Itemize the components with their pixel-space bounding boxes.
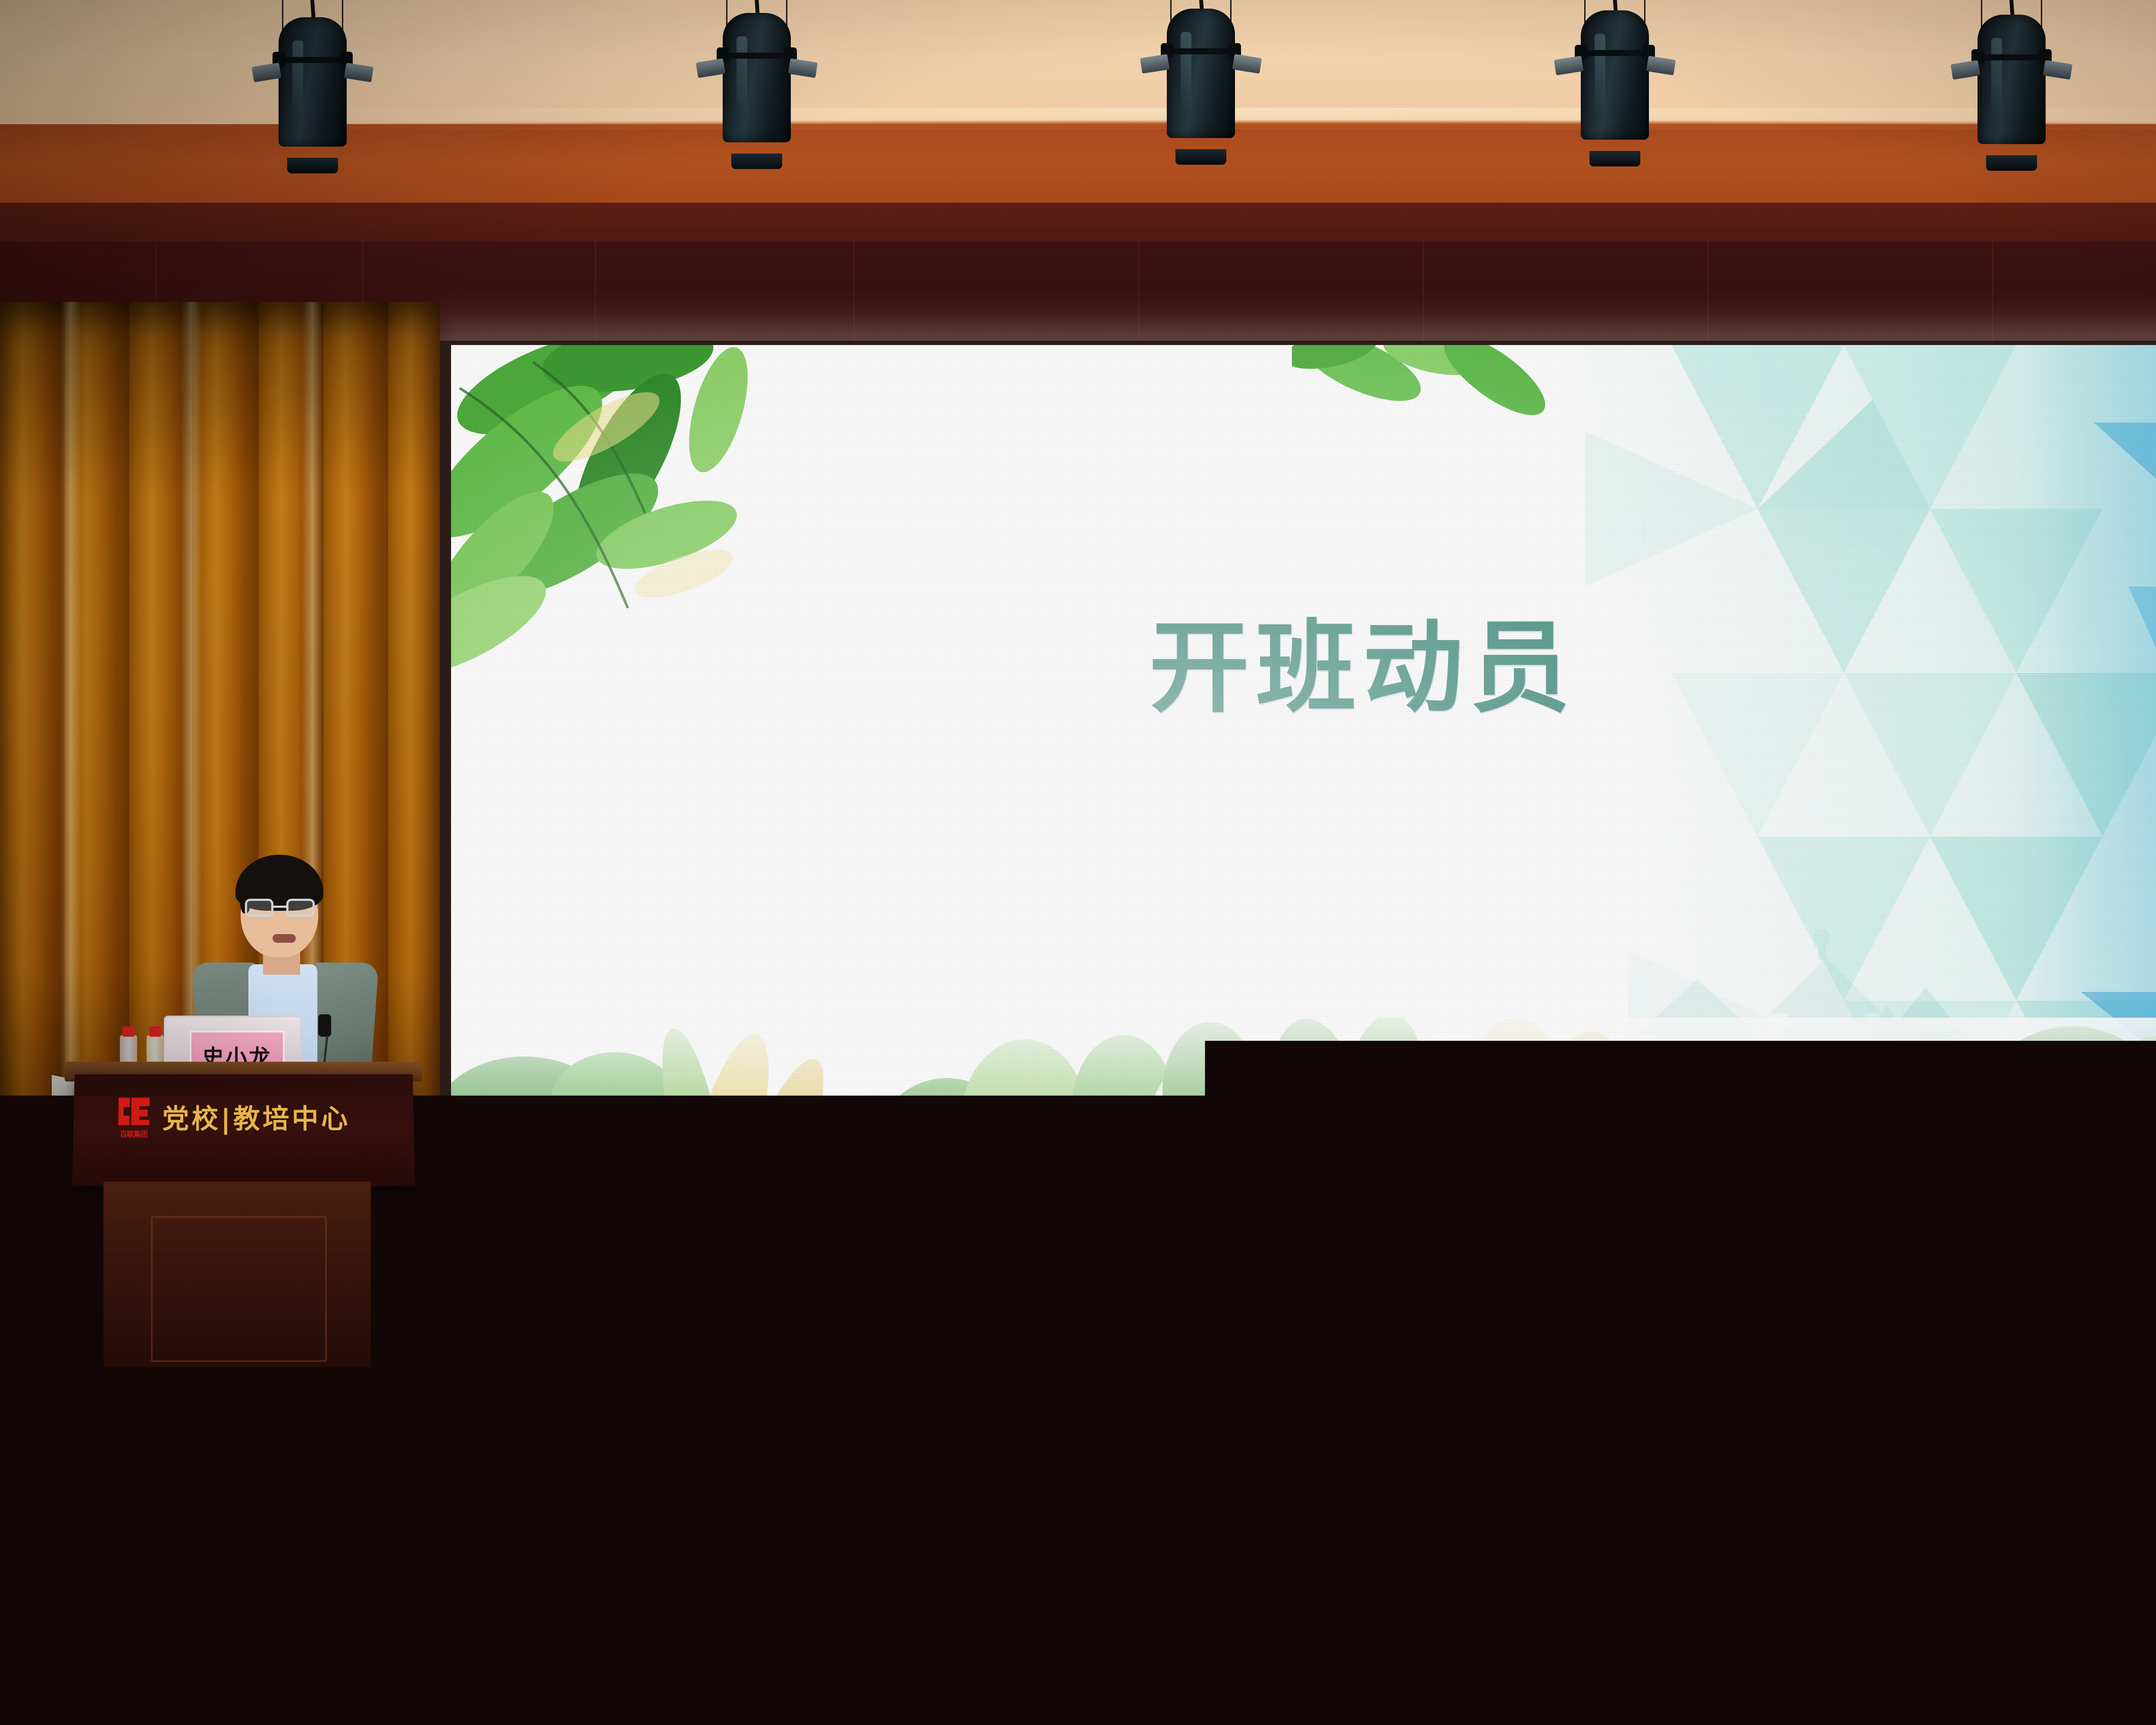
audience [0, 1229, 2156, 1725]
podium: 百联集团 党校|教培中心 [72, 1074, 415, 1186]
auditorium-scene: 开班动员 [0, 0, 2156, 1725]
audience-member [0, 1302, 250, 1725]
stage-light-1 [267, 0, 358, 177]
slide-title: 开班动员 [451, 586, 2156, 731]
presentation-slide: 开班动员 [451, 345, 2156, 1333]
thermos-bottle [1876, 1552, 1904, 1673]
bailian-group-logo-icon: 百联集团 [116, 1096, 151, 1137]
stage-light-5 [1966, 0, 2057, 174]
thermos-bottle [716, 1587, 744, 1699]
eyeglasses-icon [244, 899, 316, 918]
stage-light-3 [1156, 0, 1246, 168]
podium-sign-text: 党校|教培中心 [162, 1097, 351, 1136]
microphone-icon [318, 1014, 331, 1037]
stage-light-2 [711, 0, 802, 172]
audience-member [354, 1294, 699, 1725]
chair-back [949, 1652, 1337, 1678]
audience-member [1570, 1363, 1811, 1725]
chair-back [1457, 1643, 1846, 1669]
logo-subtext: 百联集团 [116, 1128, 151, 1139]
stage-light-4 [1570, 0, 1660, 170]
chair-back [1940, 1634, 2156, 1660]
leaf-decor-top-center [1292, 345, 1551, 466]
